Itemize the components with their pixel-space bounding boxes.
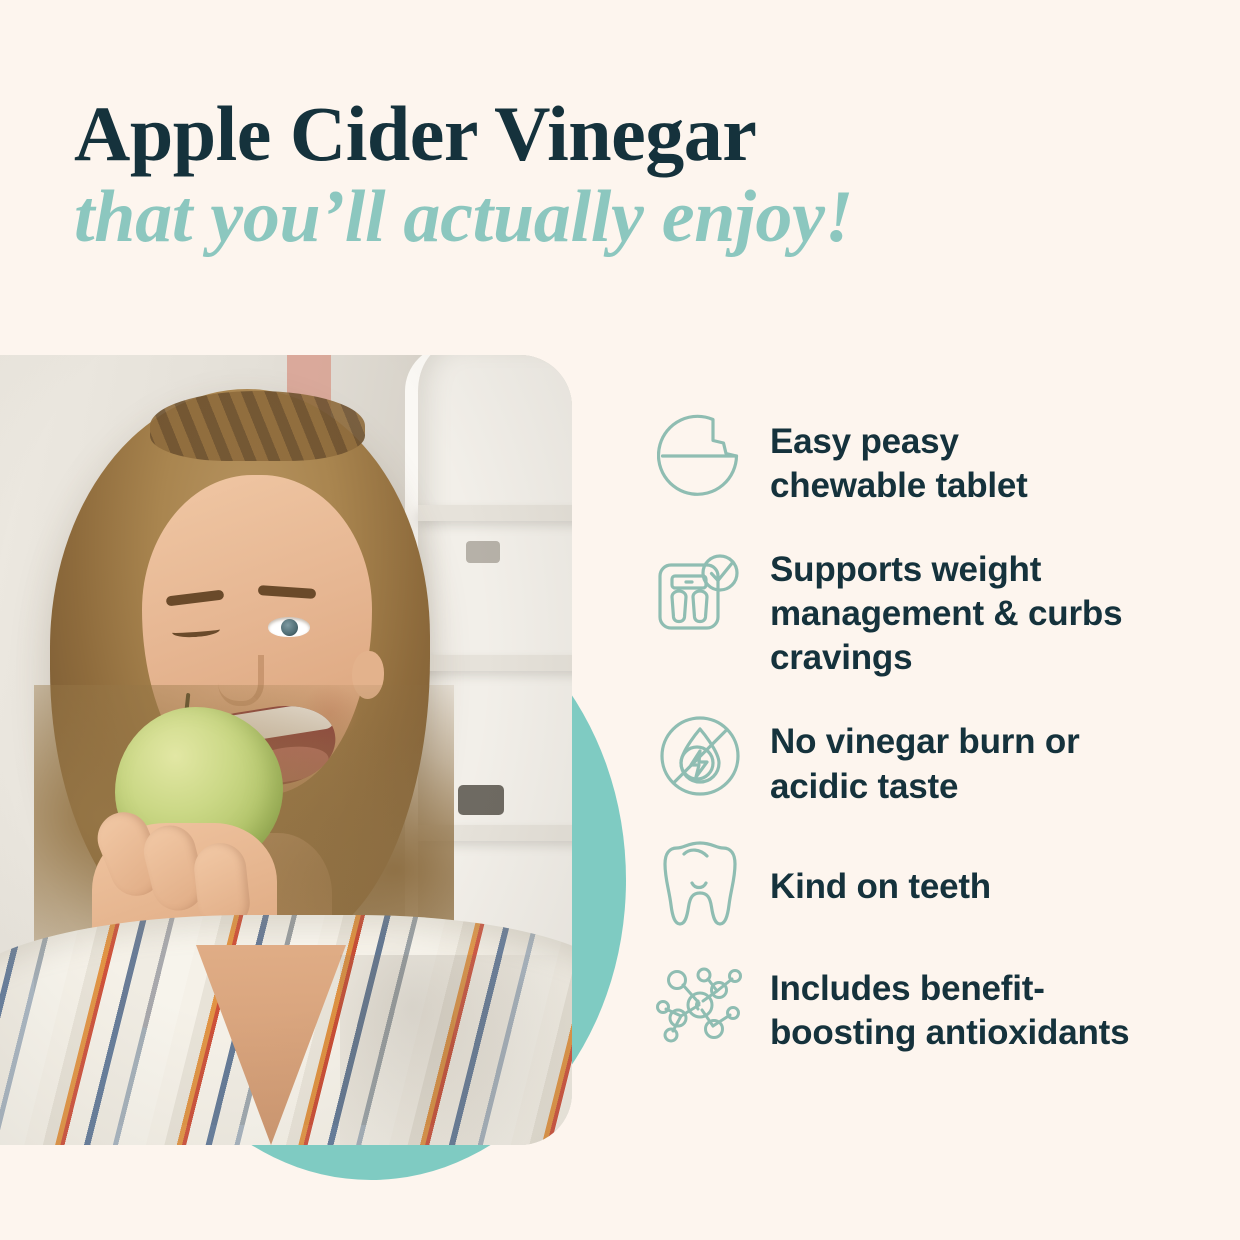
weight-scale-check-icon bbox=[652, 542, 748, 646]
benefit-item: Easy peasy chewable tablet bbox=[652, 404, 1212, 508]
photo-cabinet-shelf bbox=[418, 505, 572, 521]
benefit-label: Kind on teeth bbox=[748, 831, 1212, 909]
benefits-list: Easy peasy chewable tablet Supports weig… bbox=[652, 404, 1212, 1057]
molecule-antioxidant-icon bbox=[652, 953, 748, 1057]
benefit-label: Includes benefit- boosting antioxidants bbox=[748, 953, 1212, 1055]
photo-cabinet-hinge bbox=[458, 785, 504, 815]
benefit-label: No vinegar burn or acidic taste bbox=[748, 704, 1212, 808]
headline-block: Apple Cider Vinegar that you’ll actually… bbox=[74, 96, 1074, 258]
photo-cabinet-hinge bbox=[466, 541, 500, 563]
page-subtitle: that you’ll actually enjoy! bbox=[74, 178, 1074, 258]
no-acid-droplet-icon bbox=[652, 704, 748, 808]
photo-model-iris bbox=[281, 619, 298, 636]
benefit-label: Easy peasy chewable tablet bbox=[748, 404, 1212, 508]
hero-photo bbox=[0, 355, 572, 1145]
photo-model-braid bbox=[150, 391, 365, 461]
page-title: Apple Cider Vinegar bbox=[74, 96, 1074, 172]
hero-photo-image bbox=[0, 355, 572, 1145]
photo-shoulder-shadow bbox=[340, 955, 572, 1145]
chewable-tablet-icon bbox=[652, 404, 748, 508]
benefit-item: No vinegar burn or acidic taste bbox=[652, 704, 1212, 808]
product-benefits-banner: Apple Cider Vinegar that you’ll actually… bbox=[0, 0, 1240, 1240]
photo-cabinet-shelf bbox=[418, 655, 572, 671]
benefit-item: Kind on teeth bbox=[652, 831, 1212, 935]
benefit-label: Supports weight management & curbs cravi… bbox=[748, 542, 1212, 680]
tooth-icon bbox=[652, 831, 748, 935]
benefit-item: Supports weight management & curbs cravi… bbox=[652, 542, 1212, 680]
benefit-item: Includes benefit- boosting antioxidants bbox=[652, 953, 1212, 1057]
